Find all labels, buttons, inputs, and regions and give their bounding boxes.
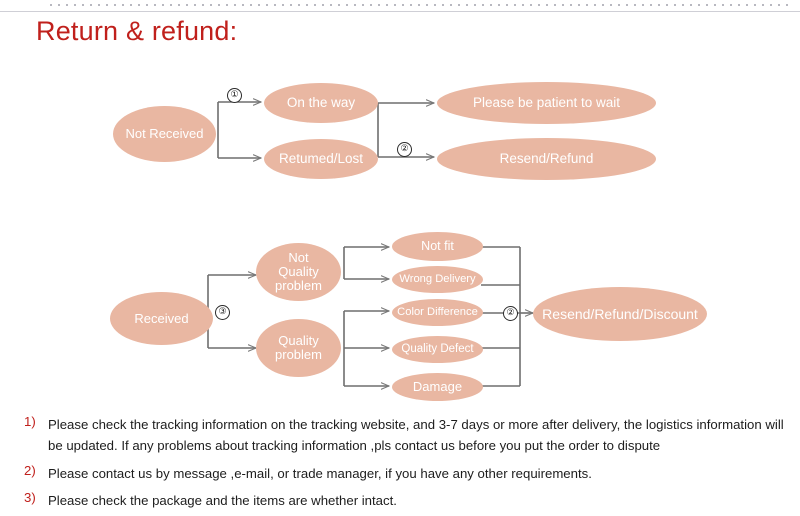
marker-1: ①: [227, 88, 242, 103]
node-reason-damage[interactable]: Damage: [392, 373, 483, 401]
note-text: Please check the package and the items a…: [48, 490, 784, 511]
node-please-be-patient[interactable]: Please be patient to wait: [437, 82, 656, 124]
node-received[interactable]: Received: [110, 292, 213, 345]
node-reason-color-difference[interactable]: Color Difference: [392, 299, 483, 326]
note-text: Please check the tracking information on…: [48, 414, 784, 457]
node-reason-quality-defect[interactable]: Quality Defect: [392, 336, 483, 363]
note-item: 3) Please check the package and the item…: [24, 490, 784, 511]
marker-2-bottom: ②: [503, 306, 518, 321]
marker-2-top: ②: [397, 142, 412, 157]
node-reason-not-fit[interactable]: Not fit: [392, 232, 483, 261]
note-item: 2) Please contact us by message ,e-mail,…: [24, 463, 784, 484]
node-quality-problem[interactable]: Quality problem: [256, 319, 341, 377]
page-title: Return & refund:: [36, 16, 237, 47]
top-dotted-divider: [50, 4, 790, 6]
node-on-the-way[interactable]: On the way: [264, 83, 378, 123]
node-not-quality-problem[interactable]: Not Quality problem: [256, 243, 341, 301]
note-marker: 1): [24, 414, 48, 429]
node-resend-refund[interactable]: Resend/Refund: [437, 138, 656, 180]
node-reason-wrong-delivery[interactable]: Wrong Delivery: [392, 266, 483, 293]
top-solid-divider: [0, 11, 800, 12]
note-marker: 2): [24, 463, 48, 478]
node-not-received[interactable]: Not Received: [113, 106, 216, 162]
note-marker: 3): [24, 490, 48, 505]
marker-3: ③: [215, 305, 230, 320]
node-resend-refund-discount[interactable]: Resend/Refund/Discount: [533, 287, 707, 341]
notes-list: 1) Please check the tracking information…: [24, 414, 784, 516]
slide-canvas: Return & refund:: [0, 0, 800, 516]
note-item: 1) Please check the tracking information…: [24, 414, 784, 457]
node-returned-lost[interactable]: Retumed/Lost: [264, 139, 378, 179]
note-text: Please contact us by message ,e-mail, or…: [48, 463, 784, 484]
